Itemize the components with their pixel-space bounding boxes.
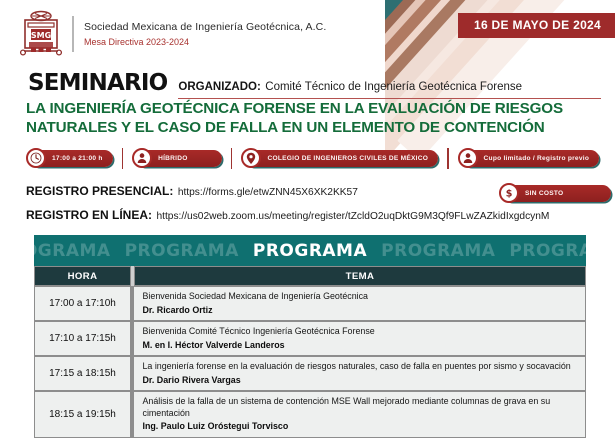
column-header-tema: TEMA xyxy=(134,266,586,286)
badge-separator-2 xyxy=(231,148,232,169)
badge-separator-1 xyxy=(122,148,123,169)
seminario-label: SEMINARIO xyxy=(28,70,167,96)
row-tema: Bienvenida Comité Técnico Ingeniería Geo… xyxy=(133,321,587,356)
programa-table-header: HORA TEMA xyxy=(34,266,586,286)
clock-icon xyxy=(26,148,46,168)
badge-cost-pill: SIN COSTO xyxy=(503,185,611,202)
organization-name: Sociedad Mexicana de Ingeniería Geotécni… xyxy=(84,20,326,35)
programa-ghost-4: PROGRAMA xyxy=(502,241,586,261)
registration-online-url[interactable]: https://us02web.zoom.us/meeting/register… xyxy=(156,211,549,222)
tema-speaker: Ing. Paulo Luiz Oróstegui Torvisco xyxy=(143,420,579,433)
person-icon xyxy=(132,148,152,168)
seminar-poster: SMG Sociedad Mexicana de Ingeniería Geot… xyxy=(0,0,615,445)
programa-table-body: 17:00 a 17:10h Bienvenida Sociedad Mexic… xyxy=(34,286,586,438)
badge-modality-label: HÍBRIDO xyxy=(158,155,188,162)
table-row: 18:15 a 19:15h Análisis de la falla de u… xyxy=(34,391,586,438)
row-hora: 17:10 a 17:15h xyxy=(34,321,131,356)
row-hora: 17:00 a 17:10h xyxy=(34,286,131,321)
seminar-kicker-row: SEMINARIO ORGANIZADO: Comité Técnico de … xyxy=(28,70,601,99)
table-row: 17:15 a 18:15h La ingeniería forense en … xyxy=(34,356,586,391)
registration-online-label: REGISTRO EN LÍNEA: xyxy=(26,208,152,222)
tema-description: Análisis de la falla de un sistema de co… xyxy=(143,396,579,419)
registration-onsite-url[interactable]: https://forms.gle/etwZNN45X6XK2KK57 xyxy=(178,187,358,198)
programa-title: PROGRAMA xyxy=(246,241,374,261)
organization-board: Mesa Directiva 2023-2024 xyxy=(84,35,326,49)
tema-description: Bienvenida Comité Técnico Ingeniería Geo… xyxy=(143,326,579,338)
badge-venue: COLEGIO DE INGENIEROS CIVILES DE MÉXICO xyxy=(241,147,438,169)
tema-speaker: Dr. Dario Rivera Vargas xyxy=(143,374,579,387)
registration-block: REGISTRO PRESENCIAL: https://forms.gle/e… xyxy=(26,182,549,230)
row-tema: Bienvenida Sociedad Mexicana de Ingenier… xyxy=(133,286,587,321)
organized-by-label: ORGANIZADO: xyxy=(178,81,260,93)
organized-by-line: ORGANIZADO: Comité Técnico de Ingeniería… xyxy=(178,77,601,99)
programa-ghost-2: PROGRAMA xyxy=(118,241,246,261)
table-row: 17:10 a 17:15h Bienvenida Comité Técnico… xyxy=(34,321,586,356)
badge-modality: HÍBRIDO xyxy=(132,147,222,169)
badge-cost: $ SIN COSTO xyxy=(499,182,611,204)
badge-capacity-label: Cupo limitado / Registro previo xyxy=(484,155,590,162)
header-divider xyxy=(72,16,74,52)
badge-capacity: Cupo limitado / Registro previo xyxy=(458,147,600,169)
programa-table: PROGRAMA PROGRAMA PROGRAMA PROGRAMA PROG… xyxy=(34,235,586,438)
programa-banner: PROGRAMA PROGRAMA PROGRAMA PROGRAMA PROG… xyxy=(34,235,586,266)
table-row: 17:00 a 17:10h Bienvenida Sociedad Mexic… xyxy=(34,286,586,321)
row-tema: La ingeniería forense en la evaluación d… xyxy=(133,356,587,391)
badge-schedule-label: 17:00 a 21:00 h xyxy=(52,155,103,162)
row-hora: 18:15 a 19:15h xyxy=(34,391,131,438)
badge-schedule: 17:00 a 21:00 h xyxy=(26,147,113,169)
smg-logo: SMG xyxy=(18,9,64,59)
row-hora: 17:15 a 18:15h xyxy=(34,356,131,391)
svg-text:$: $ xyxy=(506,188,513,199)
programa-ghost-1: PROGRAMA xyxy=(34,241,118,261)
badge-venue-pill: COLEGIO DE INGENIEROS CIVILES DE MÉXICO xyxy=(245,150,438,167)
badge-venue-label: COLEGIO DE INGENIEROS CIVILES DE MÉXICO xyxy=(267,155,428,162)
stripe-teal xyxy=(385,0,426,73)
registration-online-line: REGISTRO EN LÍNEA: https://us02web.zoom.… xyxy=(26,206,549,224)
column-header-hora: HORA xyxy=(34,266,131,286)
badge-capacity-pill: Cupo limitado / Registro previo xyxy=(462,150,600,167)
info-badges-row: 17:00 a 21:00 h HÍBRIDO xyxy=(26,147,606,169)
registration-onsite-label: REGISTRO PRESENCIAL: xyxy=(26,184,173,198)
svg-text:SMG: SMG xyxy=(31,31,51,40)
badge-separator-3 xyxy=(447,148,448,169)
person-icon xyxy=(458,148,478,168)
row-tema: Análisis de la falla de un sistema de co… xyxy=(133,391,587,438)
organized-by-value: Comité Técnico de Ingeniería Geotécnica … xyxy=(265,81,522,93)
badge-cost-label: SIN COSTO xyxy=(525,190,563,197)
dollar-icon: $ xyxy=(499,183,519,203)
event-date-ribbon: 16 DE MAYO DE 2024 xyxy=(458,13,615,38)
tema-description: Bienvenida Sociedad Mexicana de Ingenier… xyxy=(143,291,579,303)
brand-header: SMG Sociedad Mexicana de Ingeniería Geot… xyxy=(18,8,326,60)
tema-speaker: M. en I. Héctor Valverde Landeros xyxy=(143,339,579,352)
registration-onsite-line: REGISTRO PRESENCIAL: https://forms.gle/e… xyxy=(26,182,549,200)
seminar-title: LA INGENIERÍA GEOTÉCNICA FORENSE EN LA E… xyxy=(26,99,586,137)
tema-speaker: Dr. Ricardo Ortiz xyxy=(143,304,579,317)
tema-description: La ingeniería forense en la evaluación d… xyxy=(143,361,579,373)
programa-ghost-3: PROGRAMA xyxy=(374,241,502,261)
